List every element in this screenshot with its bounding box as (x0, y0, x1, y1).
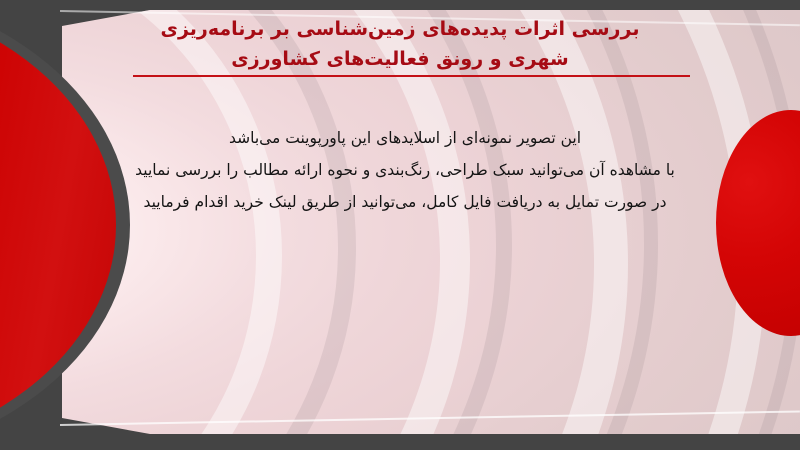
slide-title: بررسی اثرات پدیده‌های زمین‌شناسی بر برنا… (100, 14, 700, 74)
slide-body-text: این تصویر نمونه‌ای از اسلایدهای این پاور… (60, 122, 750, 218)
title-underline-rule (133, 75, 690, 77)
red-half-ellipse-fill (0, 0, 116, 450)
slide-title-line-2: شهری و رونق فعالیت‌های کشاورزی (100, 44, 700, 74)
slide-canvas: بررسی اثرات پدیده‌های زمین‌شناسی بر برنا… (0, 0, 800, 450)
slide-title-line-1: بررسی اثرات پدیده‌های زمین‌شناسی بر برنا… (100, 14, 700, 44)
body-line-1: این تصویر نمونه‌ای از اسلایدهای این پاور… (60, 122, 750, 154)
body-line-2: با مشاهده آن می‌توانید سبک طراحی، رنگ‌بن… (60, 154, 750, 186)
body-line-3: در صورت تمایل به دریافت فایل کامل، می‌تو… (60, 186, 750, 218)
